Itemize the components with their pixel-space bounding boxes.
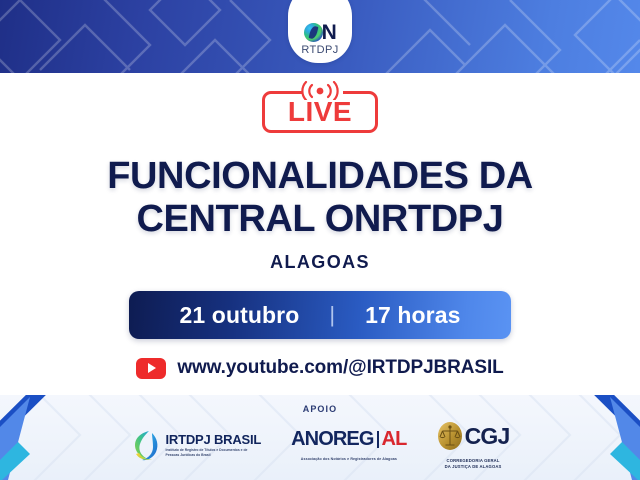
sponsor-anoreg-name: ANOREG bbox=[291, 429, 373, 449]
main-content: LIVE FUNCIONALIDADES DA CENTRAL ONRTDPJ … bbox=[0, 73, 640, 395]
title-block: FUNCIONALIDADES DA CENTRAL ONRTDPJ ALAGO… bbox=[0, 155, 640, 273]
sponsor-anoreg-al: ANOREG AL Associação dos Notários e Regi… bbox=[291, 429, 406, 461]
onrtdpj-logo: N RTDPJ bbox=[288, 0, 352, 63]
gradient-sphere-icon bbox=[304, 23, 323, 42]
broadcast-signal-icon bbox=[297, 81, 343, 100]
cgj-wordmark: CGJ bbox=[437, 421, 510, 451]
title-subtitle: ALAGOAS bbox=[0, 252, 640, 273]
footer-sponsors-bar: APOIO bbox=[0, 395, 640, 480]
youtube-channel-link[interactable]: www.youtube.com/@IRTDPJBRASIL bbox=[0, 357, 640, 379]
sponsor-logos: IRTDPJ BRASIL Instituto de Registro de T… bbox=[0, 421, 640, 470]
title-line-1: FUNCIONALIDADES DA bbox=[0, 155, 640, 198]
title-line-2: CENTRAL ONRTDPJ bbox=[0, 198, 640, 241]
sponsor-cgj-description-line2: DA JUSTIÇA DE ALAGOAS bbox=[445, 464, 502, 469]
sponsor-anoreg-description: Associação dos Notários e Registradores … bbox=[301, 457, 397, 461]
sponsor-cgj-description-line1: CORREGEDORIA GERAL bbox=[447, 458, 500, 463]
youtube-icon[interactable] bbox=[136, 358, 166, 379]
sponsor-irtdpj-brasil: IRTDPJ BRASIL Instituto de Registro de T… bbox=[131, 429, 262, 462]
sponsor-irtdpj-name: IRTDPJ BRASIL bbox=[166, 433, 262, 446]
live-badge-box: LIVE bbox=[262, 91, 378, 133]
irtdpj-swirl-icon bbox=[131, 429, 161, 462]
anoreg-wordmark: ANOREG AL bbox=[291, 429, 406, 449]
anoreg-divider bbox=[377, 431, 379, 448]
live-badge: LIVE bbox=[0, 91, 640, 133]
live-label: LIVE bbox=[288, 98, 352, 126]
event-date: 21 outubro bbox=[180, 302, 300, 329]
sponsor-anoreg-state: AL bbox=[382, 429, 407, 449]
scales-of-justice-icon bbox=[437, 421, 463, 451]
event-datetime-banner: 21 outubro | 17 horas bbox=[129, 291, 511, 339]
sponsor-cgj-alagoas: CGJ CORREGEDORIA GERAL DA JUSTIÇA DE ALA… bbox=[437, 421, 510, 470]
header-band: N RTDPJ bbox=[0, 0, 640, 73]
live-event-poster: N RTDPJ LIVE FUNCIONALID bbox=[0, 0, 640, 480]
datetime-separator: | bbox=[329, 302, 335, 328]
sponsor-cgj-name: CGJ bbox=[465, 425, 510, 448]
logo-on-lockup: N bbox=[304, 22, 337, 43]
event-time: 17 horas bbox=[365, 302, 460, 329]
apoio-label: APOIO bbox=[0, 404, 640, 414]
logo-letter-n: N bbox=[322, 22, 337, 43]
sponsor-irtdpj-description: Instituto de Registro de Títulos e Docum… bbox=[166, 448, 258, 457]
youtube-url[interactable]: www.youtube.com/@IRTDPJBRASIL bbox=[177, 357, 503, 379]
logo-sublabel: RTDPJ bbox=[301, 44, 338, 56]
